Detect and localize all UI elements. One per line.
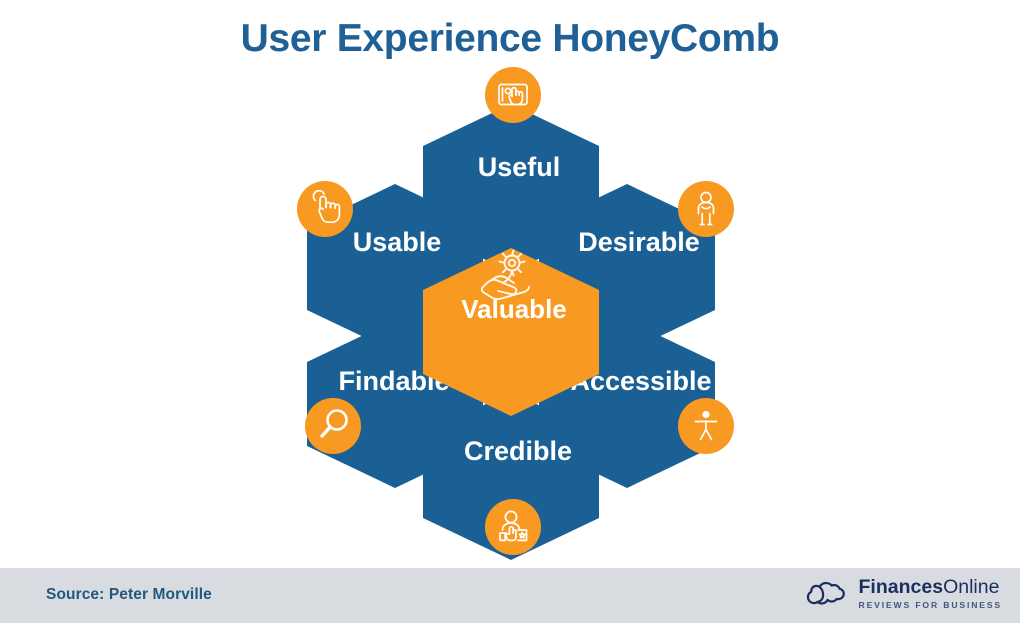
badge-useful[interactable] <box>485 67 541 123</box>
badge-usable[interactable] <box>297 181 353 237</box>
badge-credible[interactable] <box>485 499 541 555</box>
badge-accessible[interactable] <box>678 398 734 454</box>
badge-circle-findable <box>305 398 361 454</box>
badge-findable[interactable] <box>305 398 361 454</box>
logo-name: FinancesOnline <box>859 577 1002 598</box>
hex-label-valuable: Valuable <box>461 294 567 324</box>
badge-desirable[interactable] <box>678 181 734 237</box>
footer-source-text: Source: Peter Morville <box>46 586 212 604</box>
hex-label-useful: Useful <box>478 152 561 182</box>
hex-label-desirable: Desirable <box>578 227 700 257</box>
honeycomb-svg: Useful Usable Desirable Findable Accessi… <box>0 0 1020 568</box>
hex-label-credible: Credible <box>464 436 572 466</box>
cloud-swirl-icon <box>802 579 850 609</box>
badge-circle-useful <box>485 67 541 123</box>
logo-name-bold: Finances <box>859 576 944 598</box>
footer-logo[interactable]: FinancesOnline REVIEWS FOR BUSINESS <box>802 572 1002 616</box>
badge-circle-usable <box>297 181 353 237</box>
logo-name-light: Online <box>943 576 999 598</box>
honeycomb-diagram: Useful Usable Desirable Findable Accessi… <box>0 0 1020 568</box>
logo-tagline: REVIEWS FOR BUSINESS <box>859 599 1002 611</box>
hex-label-usable: Usable <box>353 227 442 257</box>
